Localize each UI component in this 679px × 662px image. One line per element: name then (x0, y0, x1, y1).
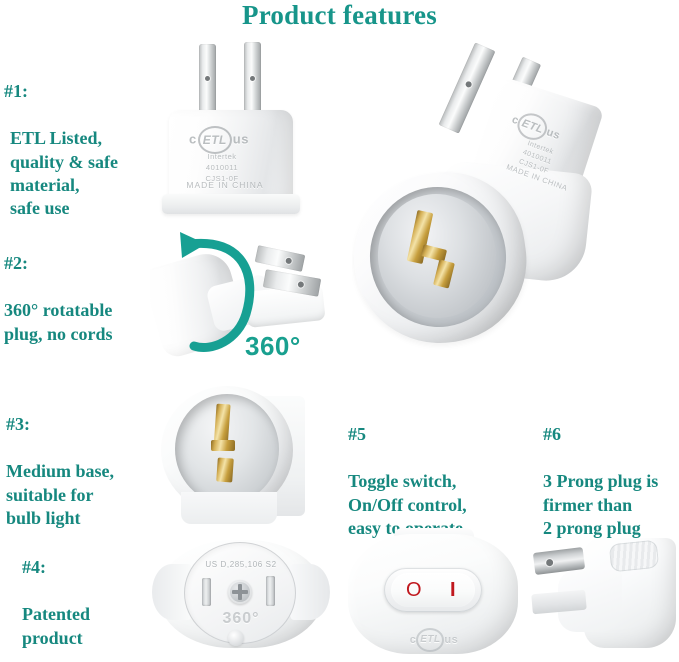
feature-number-2: #2: (4, 252, 154, 275)
switch-off-mark: O (406, 580, 422, 600)
feature-number-3: #3: (6, 413, 166, 436)
feature-text-3: #3: Medium base, suitable for bulb light (6, 390, 166, 554)
page-title: Product features (0, 0, 679, 31)
etl-logo-suffix: us (233, 131, 249, 146)
product-photo-etl-plug: cETLus Intertek 4010011 CJS1-0F MADE IN … (152, 42, 330, 230)
etl-certification-logo: cETLus (174, 126, 264, 154)
etl-logo-prefix: c (410, 634, 417, 646)
etl-certification-logo: cETLus (396, 628, 472, 652)
rotation-embossed-label: 360° (196, 610, 286, 628)
product-photo-medium-base-socket (155, 382, 330, 527)
detent-pin (228, 630, 244, 646)
product-photo-three-prong-plug (528, 528, 678, 660)
blade-hole-icon (546, 559, 554, 567)
etl-logo-ring: ETL (416, 628, 444, 652)
rocker-switch[interactable] (391, 573, 475, 607)
feature-text-1: #1: ETL Listed, quality & safe material,… (4, 57, 154, 244)
prong-slot-left (202, 578, 211, 606)
feature-body-2: 360° rotatable plug, no cords (4, 299, 154, 346)
feature-number-1: #1: (4, 80, 154, 103)
prong-slot-right (266, 576, 275, 606)
blade-hole-icon (205, 76, 210, 81)
feature-text-4: #4: Patented product (22, 533, 172, 662)
etl-logo-ring: ETL (198, 126, 232, 154)
feature-body-3: Medium base, suitable for bulb light (6, 460, 166, 530)
rotation-degree-label: 360° (245, 331, 301, 362)
feature-body-4: Patented product (22, 603, 172, 650)
plug-base-collar (162, 194, 300, 214)
etl-logo-prefix: c (189, 131, 197, 146)
brass-contact-strip (211, 440, 235, 451)
etl-logo-suffix: us (545, 126, 562, 142)
country-of-origin-mark: MADE IN CHINA (170, 180, 280, 190)
feature-body-1: ETL Listed, quality & safe material, saf… (4, 127, 154, 221)
phillips-screw-icon (228, 580, 252, 604)
product-photo-patented-back: US D,285,106 S2 360° (152, 530, 330, 658)
plug-blade-left (199, 44, 216, 118)
rotation-arrow-icon (150, 228, 335, 373)
feature-text-2: #2: 360° rotatable plug, no cords (4, 229, 154, 369)
product-photo-rotating-plug (150, 228, 335, 373)
feature-number-5: #5 (348, 423, 523, 446)
housing-wing-right (290, 564, 330, 620)
product-photo-hero-socket-adapter: cETLus Intertek 4010011 CJS1-0F MADE IN … (352, 35, 674, 380)
feature-number-6: #6 (543, 423, 679, 446)
plug-blade-right (244, 42, 261, 118)
product-features-infographic: Product features #1: ETL Listed, quality… (0, 0, 679, 662)
brass-contact-strip (216, 457, 234, 482)
grip-ribbing (609, 540, 660, 573)
socket-skirt (181, 492, 277, 524)
blade-hole-icon (250, 76, 255, 81)
etl-logo-suffix: us (444, 634, 458, 646)
switch-on-mark: I (450, 580, 456, 600)
product-photo-toggle-switch: O I cETLus (340, 528, 526, 660)
blade-hole-icon (465, 80, 473, 88)
feature-number-4: #4: (22, 556, 172, 579)
patent-number-label: US D,285,106 S2 (188, 560, 294, 569)
